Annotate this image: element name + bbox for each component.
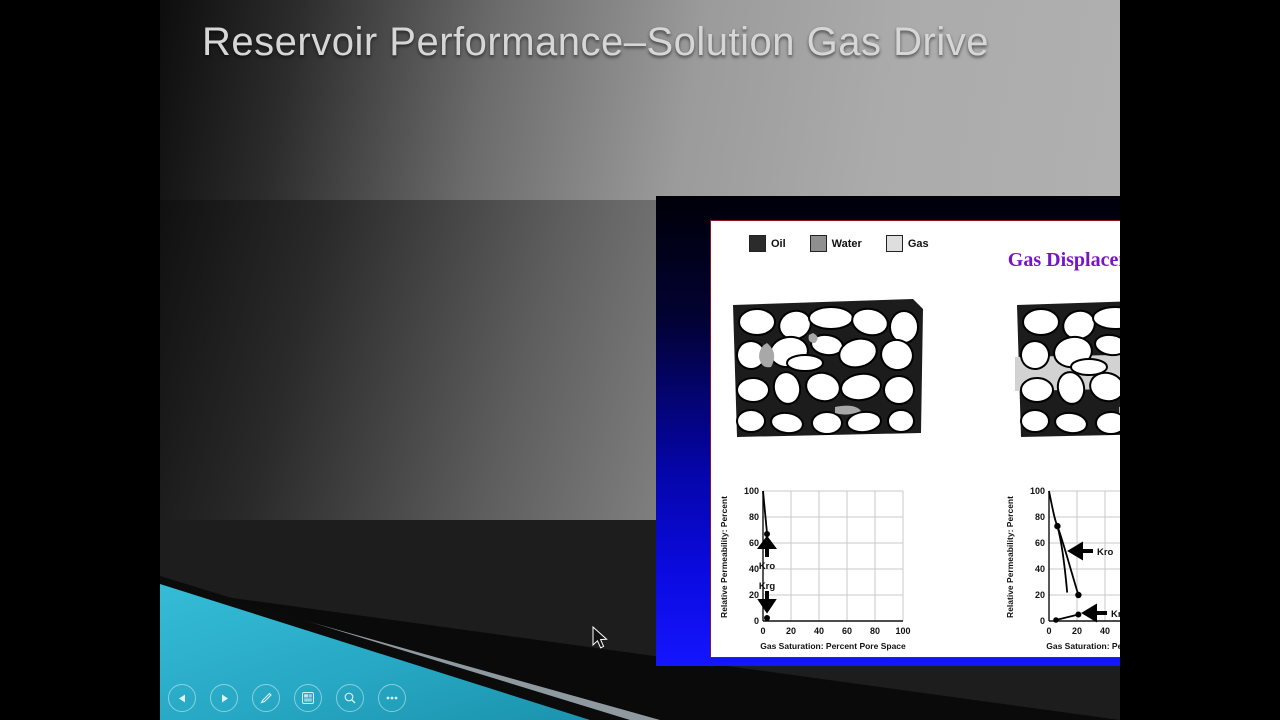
svg-text:80: 80 bbox=[1035, 512, 1045, 522]
more-button[interactable] bbox=[378, 684, 406, 712]
chart-xlabel-right: Gas Saturation: Percent Pore Space bbox=[1046, 641, 1120, 651]
svg-text:60: 60 bbox=[1035, 538, 1045, 548]
svg-text:Kro: Kro bbox=[759, 561, 776, 572]
next-icon bbox=[219, 693, 230, 704]
figure-title: Gas Displacement of Oil bbox=[1008, 249, 1120, 272]
legend-label-oil: Oil bbox=[771, 238, 786, 250]
rock-diagram-before bbox=[727, 295, 927, 440]
slides-icon bbox=[301, 691, 315, 705]
figure-legend: Oil Water Gas bbox=[749, 235, 929, 252]
video-player-stage: Reservoir Performance–Solution Gas Drive… bbox=[0, 0, 1280, 720]
previous-button[interactable] bbox=[168, 684, 196, 712]
relperm-chart-before: 100 80 60 40 20 0 0 20 40 60 80 100 bbox=[715, 479, 929, 657]
svg-text:40: 40 bbox=[1035, 564, 1045, 574]
svg-text:20: 20 bbox=[749, 590, 759, 600]
svg-text:40: 40 bbox=[814, 626, 824, 636]
oil-swatch bbox=[749, 235, 766, 252]
presentation-slide: Reservoir Performance–Solution Gas Drive… bbox=[160, 0, 1120, 720]
slides-button[interactable] bbox=[294, 684, 322, 712]
water-swatch bbox=[810, 235, 827, 252]
player-toolbar[interactable] bbox=[168, 684, 406, 712]
page-title: Reservoir Performance–Solution Gas Drive bbox=[202, 20, 1102, 65]
relperm-chart-after: 100 80 60 40 20 0 0 20 40 60 80 100 bbox=[1001, 479, 1120, 657]
next-button[interactable] bbox=[210, 684, 238, 712]
svg-text:60: 60 bbox=[842, 626, 852, 636]
svg-text:0: 0 bbox=[1046, 626, 1051, 636]
svg-text:Kro: Kro bbox=[1097, 547, 1114, 558]
previous-icon bbox=[177, 693, 188, 704]
svg-text:Krg: Krg bbox=[1111, 609, 1120, 620]
legend-item-gas: Gas bbox=[886, 235, 929, 252]
svg-text:0: 0 bbox=[760, 626, 765, 636]
svg-text:100: 100 bbox=[744, 486, 759, 496]
chart-ylabel-right: Relative Permeability: Percent bbox=[1005, 496, 1015, 618]
svg-text:Krg: Krg bbox=[759, 581, 776, 592]
legend-label-gas: Gas bbox=[908, 238, 929, 250]
chart-xlabel-left: Gas Saturation: Percent Pore Space bbox=[760, 641, 906, 651]
zoom-button[interactable] bbox=[336, 684, 364, 712]
svg-text:20: 20 bbox=[786, 626, 796, 636]
legend-item-water: Water bbox=[810, 235, 862, 252]
svg-text:0: 0 bbox=[1040, 616, 1045, 626]
legend-label-water: Water bbox=[832, 238, 862, 250]
chart-ylabel-left: Relative Permeability: Percent bbox=[719, 496, 729, 618]
svg-text:80: 80 bbox=[870, 626, 880, 636]
pen-icon bbox=[259, 691, 273, 705]
ellipsis-icon bbox=[385, 695, 399, 701]
gas-swatch bbox=[886, 235, 903, 252]
magnifier-icon bbox=[343, 691, 357, 705]
svg-text:20: 20 bbox=[1072, 626, 1082, 636]
svg-text:0: 0 bbox=[754, 616, 759, 626]
svg-text:20: 20 bbox=[1035, 590, 1045, 600]
mouse-cursor bbox=[592, 626, 610, 652]
legend-item-oil: Oil bbox=[749, 235, 786, 252]
svg-text:80: 80 bbox=[749, 512, 759, 522]
figure-canvas: Oil Water Gas Gas Displacement of Oil bbox=[710, 220, 1120, 658]
pen-button[interactable] bbox=[252, 684, 280, 712]
svg-text:100: 100 bbox=[895, 626, 910, 636]
svg-text:40: 40 bbox=[1100, 626, 1110, 636]
svg-text:100: 100 bbox=[1030, 486, 1045, 496]
rock-diagram-after bbox=[1011, 295, 1120, 440]
figure-panel: Oil Water Gas Gas Displacement of Oil bbox=[656, 196, 1120, 666]
svg-text:40: 40 bbox=[749, 564, 759, 574]
svg-text:60: 60 bbox=[749, 538, 759, 548]
